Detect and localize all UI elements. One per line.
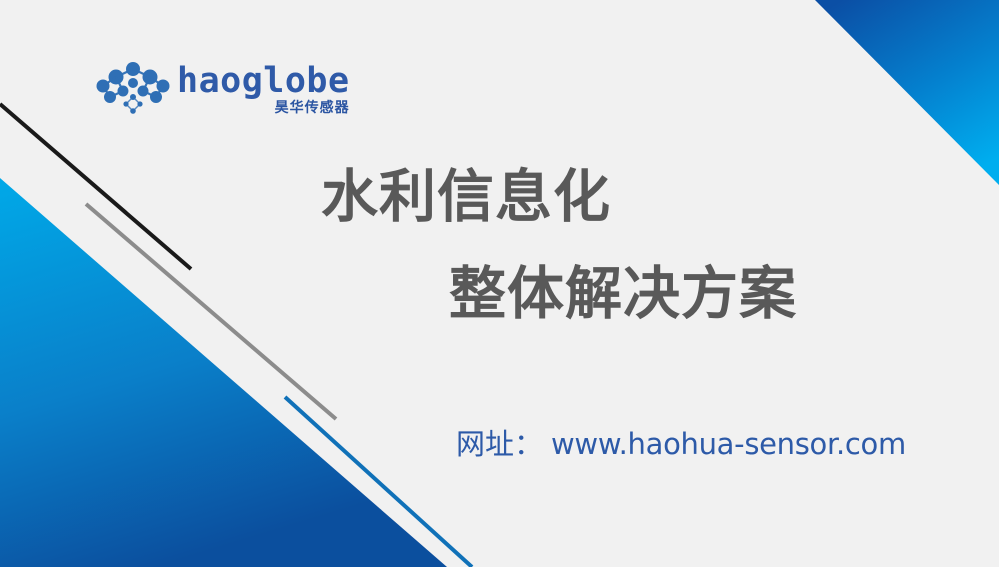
website-label: 网址： (456, 421, 543, 463)
network-cluster-icon (96, 61, 170, 117)
page-title-line-1: 水利信息化 (321, 168, 611, 228)
website-url[interactable]: www.haohua-sensor.com (551, 427, 906, 461)
page-title-line-2: 整体解决方案 (449, 265, 797, 325)
company-logo: haoglobe 昊华传感器 (96, 58, 326, 120)
left-blue-triangle (0, 178, 447, 567)
logo-wordmark: haoglobe (177, 64, 350, 99)
right-blue-triangle (815, 0, 999, 185)
logo-chinese-name: 昊华传感器 (275, 101, 350, 115)
logo-text: haoglobe 昊华传感器 (177, 64, 350, 115)
presentation-slide: haoglobe 昊华传感器 水利信息化 整体解决方案 网址： www.haoh… (0, 0, 999, 567)
website-line: 网址： www.haohua-sensor.com (456, 421, 906, 463)
